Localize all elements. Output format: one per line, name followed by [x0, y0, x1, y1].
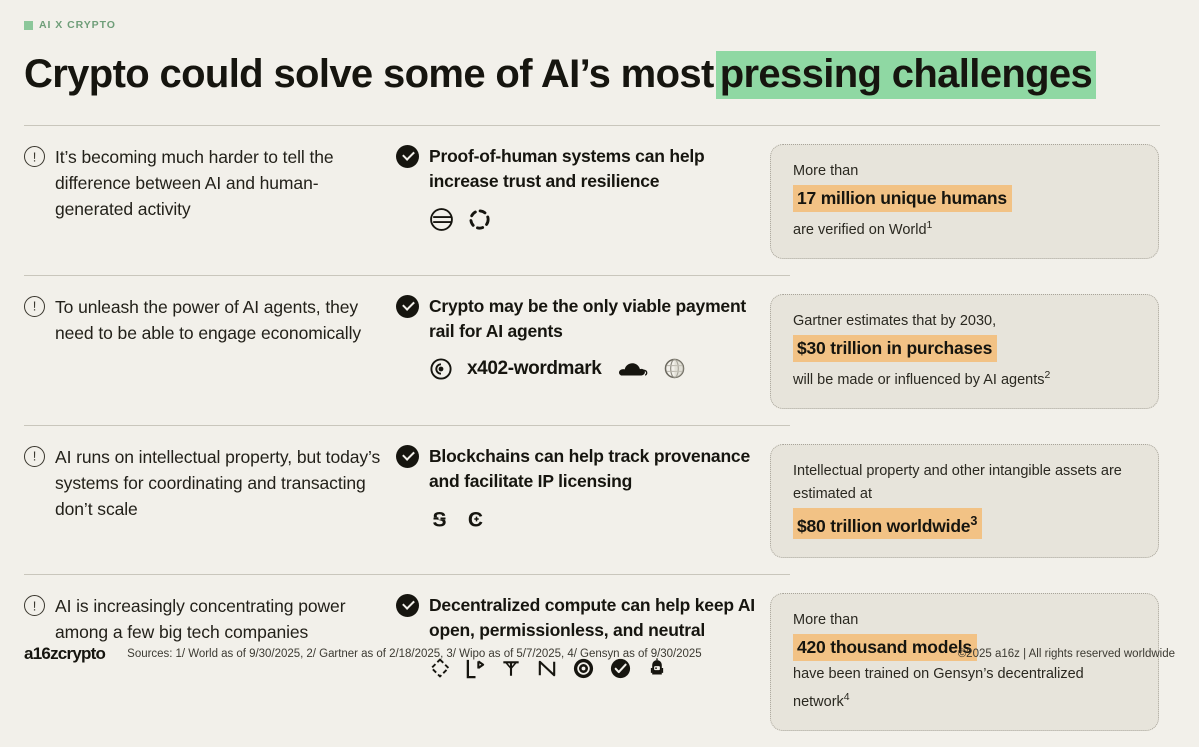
stat-footnote: 3 [970, 514, 977, 528]
page-title: Crypto could solve some of AI’s mostpres… [24, 48, 1096, 100]
stat-cell: More than 17 million unique humans are v… [770, 144, 1199, 259]
stat-pre: Gartner estimates that by 2030, [793, 310, 1136, 333]
stat-cell: Intellectual property and other intangib… [770, 444, 1199, 559]
page-title-highlight: pressing challenges [716, 51, 1096, 99]
stat-highlight: 17 million unique humans [793, 185, 1012, 212]
solution-text: Blockchains can help track provenance an… [429, 444, 770, 494]
stat-card: Gartner estimates that by 2030, $30 tril… [770, 294, 1159, 409]
page-title-plain: Crypto could solve some of AI’s most [24, 52, 714, 96]
solution-cell: Crypto may be the only viable payment ra… [396, 294, 770, 383]
stat-footnote: 2 [1044, 370, 1050, 381]
stat-pre: Intellectual property and other intangib… [793, 460, 1136, 506]
stat-post-text: are verified on World [793, 222, 927, 238]
solution-cell: Proof-of-human systems can help increase… [396, 144, 770, 233]
problem-text: To unleash the power of AI agents, they … [55, 294, 396, 346]
problem-text: It’s becoming much harder to tell the di… [55, 144, 396, 222]
eyebrow-label: AI X CRYPTO [39, 19, 116, 31]
check-circle-icon [396, 445, 419, 468]
stat-footnote: 1 [927, 220, 933, 231]
eyebrow-tag: AI X CRYPTO [24, 19, 116, 31]
logo-strip [429, 205, 770, 233]
coinbase-logo [429, 357, 453, 381]
stat-highlight: $80 trillion worldwide3 [793, 508, 982, 540]
stat-card: More than 17 million unique humans are v… [770, 144, 1159, 259]
dashed-circle-logo [468, 208, 491, 231]
logo-strip: S C [429, 505, 770, 533]
solution-text: Crypto may be the only viable payment ra… [429, 294, 770, 344]
problem-cell: AI runs on intellectual property, but to… [0, 444, 396, 522]
table-row: AI runs on intellectual property, but to… [0, 426, 1199, 575]
sources-text: Sources: 1/ World as of 9/30/2025, 2/ Ga… [127, 648, 702, 660]
alert-icon [24, 146, 45, 167]
story-logo: S [429, 507, 450, 531]
alert-icon [24, 595, 45, 616]
table-row: It’s becoming much harder to tell the di… [0, 126, 1199, 275]
stat-pre: More than [793, 160, 1136, 183]
x402-wordmark: x402-wordmark [467, 358, 601, 380]
solution-text: Proof-of-human systems can help increase… [429, 144, 770, 194]
table-row: To unleash the power of AI agents, they … [0, 276, 1199, 425]
check-circle-icon [396, 145, 419, 168]
alert-icon [24, 296, 45, 317]
stat-post-text: have been trained on Gensyn’s decentrali… [793, 666, 1084, 710]
check-circle-icon [396, 594, 419, 617]
solution-cell: Blockchains can help track provenance an… [396, 444, 770, 533]
camp-logo: C [464, 507, 487, 531]
svg-text:S: S [432, 508, 446, 531]
problem-text: AI runs on intellectual property, but to… [55, 444, 396, 522]
copyright-text: ©2025 a16z | All rights reserved worldwi… [958, 648, 1175, 660]
stat-pre: More than [793, 609, 1136, 632]
stat-highlight-text: $80 trillion worldwide [797, 515, 970, 535]
stat-post: are verified on World1 [793, 214, 1136, 242]
stat-footnote: 4 [844, 692, 850, 703]
problem-cell: To unleash the power of AI agents, they … [0, 294, 396, 346]
cloudflare-logo [615, 359, 649, 379]
stat-post: will be made or influenced by AI agents2 [793, 364, 1136, 392]
world-logo [429, 207, 454, 232]
problem-cell: It’s becoming much harder to tell the di… [0, 144, 396, 222]
stat-highlight: $30 trillion in purchases [793, 335, 997, 362]
sphere-logo [663, 357, 686, 380]
footer: a16zcrypto Sources: 1/ World as of 9/30/… [0, 636, 1199, 672]
stat-post-text: will be made or influenced by AI agents [793, 372, 1044, 388]
stat-cell: Gartner estimates that by 2030, $30 tril… [770, 294, 1199, 409]
brand-logo: a16zcrypto [24, 644, 105, 664]
square-icon [24, 21, 33, 30]
alert-icon [24, 446, 45, 467]
logo-strip: x402-wordmark [429, 355, 770, 383]
check-circle-icon [396, 295, 419, 318]
stat-card: Intellectual property and other intangib… [770, 444, 1159, 559]
